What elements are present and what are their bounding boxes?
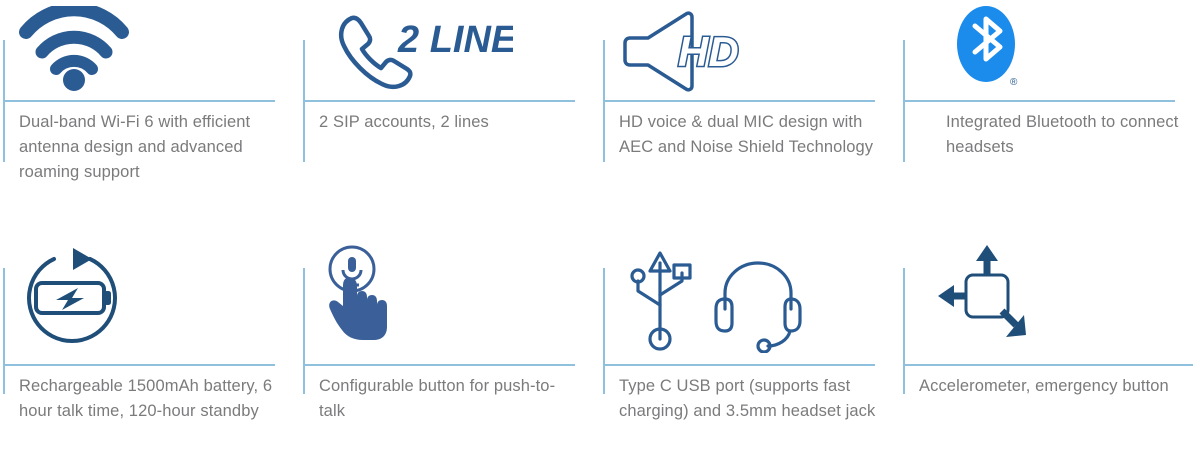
feature-cell-accelerometer: Accelerometer, emergency button (900, 228, 1200, 456)
accelerometer-icon (930, 242, 1180, 354)
cell-vertical-rule (603, 268, 605, 394)
feature-cell-bluetooth: ® Integrated Bluetooth to connect headse… (900, 0, 1200, 228)
usb-headset-icon (620, 242, 870, 354)
feature-caption: Configurable button for push-to-talk (319, 374, 581, 424)
cell-horizontal-rule (303, 100, 575, 102)
feature-cell-wifi: Dual-band Wi-Fi 6 with efficient antenna… (0, 0, 300, 228)
cell-vertical-rule (3, 268, 5, 394)
phone-icon-label: 2 LINES (397, 19, 513, 61)
feature-grid: Dual-band Wi-Fi 6 with efficient antenna… (0, 0, 1200, 456)
feature-cell-battery: Rechargeable 1500mAh battery, 6 hour tal… (0, 228, 300, 456)
phone-2-lines-icon: 2 LINES (318, 2, 568, 96)
registered-mark: ® (1010, 77, 1018, 88)
feature-cell-push-to-talk: Configurable button for push-to-talk (300, 228, 600, 456)
feature-caption: Accelerometer, emergency button (919, 374, 1189, 399)
hd-label: HD (678, 28, 739, 75)
wifi-icon (18, 2, 268, 96)
feature-cell-usb-headset: Type C USB port (supports fast charging)… (600, 228, 900, 456)
feature-cell-2-lines: 2 LINES 2 SIP accounts, 2 lines (300, 0, 600, 228)
feature-caption: 2 SIP accounts, 2 lines (319, 110, 581, 135)
cell-vertical-rule (903, 268, 905, 394)
hd-speaker-icon: HD (618, 2, 868, 96)
rechargeable-battery-icon (18, 242, 268, 354)
feature-caption: Integrated Bluetooth to connect headsets (946, 110, 1196, 160)
cell-horizontal-rule (603, 364, 875, 366)
cell-horizontal-rule (3, 364, 275, 366)
bluetooth-icon: ® (948, 2, 1198, 96)
cell-horizontal-rule (303, 364, 575, 366)
feature-caption: Dual-band Wi-Fi 6 with efficient antenna… (19, 110, 281, 185)
feature-caption: HD voice & dual MIC design with AEC and … (619, 110, 881, 160)
cell-vertical-rule (303, 268, 305, 394)
push-to-talk-button-icon (322, 242, 572, 354)
cell-horizontal-rule (903, 100, 1175, 102)
feature-cell-hd-voice: HD HD voice & dual MIC design with AEC a… (600, 0, 900, 228)
cell-horizontal-rule (603, 100, 875, 102)
feature-caption: Rechargeable 1500mAh battery, 6 hour tal… (19, 374, 281, 424)
feature-caption: Type C USB port (supports fast charging)… (619, 374, 885, 424)
cell-horizontal-rule (3, 100, 275, 102)
cell-horizontal-rule (903, 364, 1193, 366)
